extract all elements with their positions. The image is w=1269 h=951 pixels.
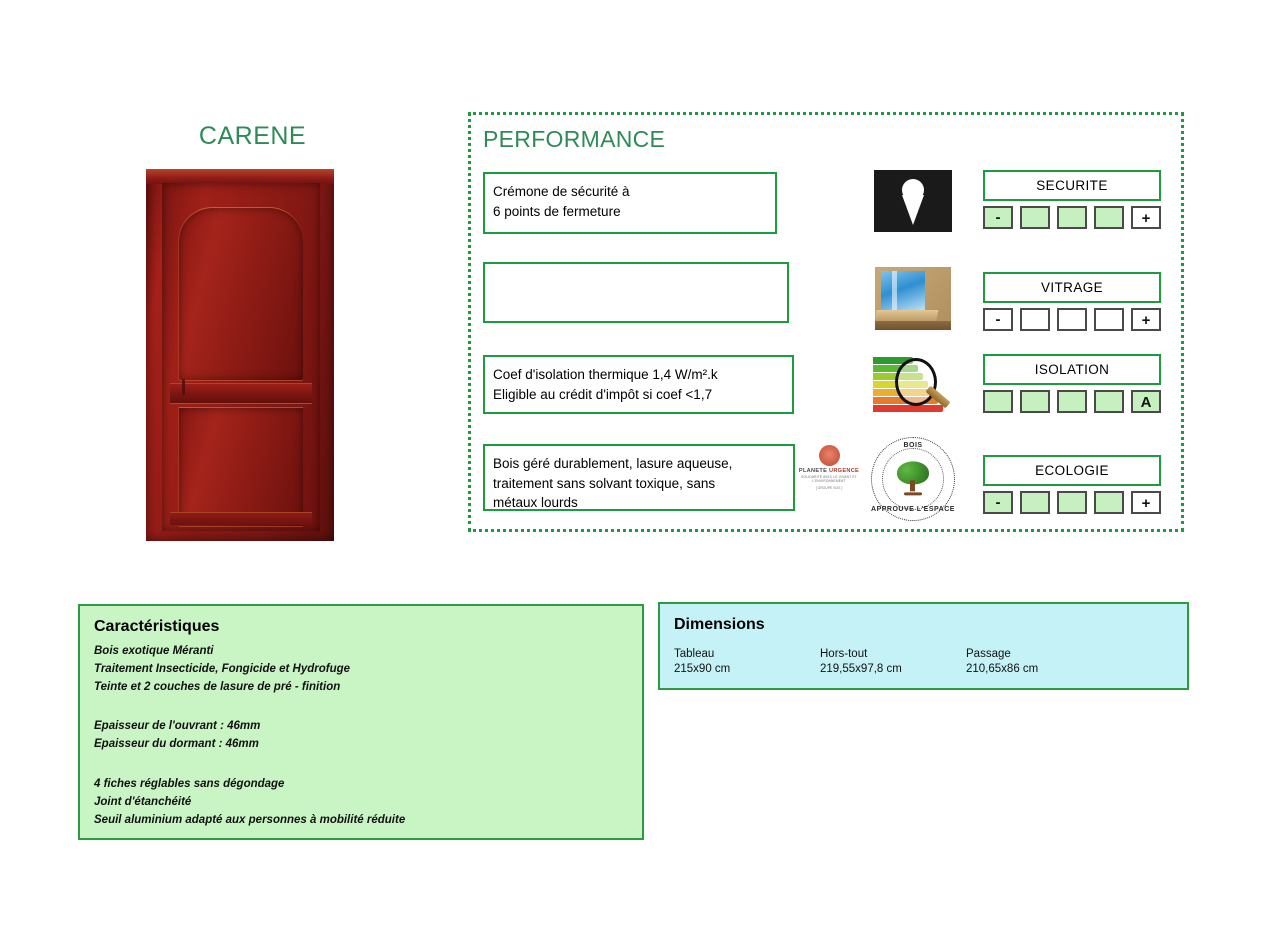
rating-group-securite: SECURITE - + (983, 170, 1161, 229)
dimensions-column-value: 215x90 cm (674, 663, 820, 675)
planete-urgence-logo: PLANETE URGENCE SOLIDARITE AVEC LE VIVAN… (791, 445, 867, 497)
scale-symbol-minus: - (985, 312, 1011, 327)
dimensions-heading: Dimensions (674, 616, 1173, 634)
securite-description-box: Crémone de sécurité à 6 points de fermet… (483, 172, 777, 234)
scale-symbol-plus: + (1133, 313, 1159, 328)
rating-label-ecologie: ECOLOGIE (983, 455, 1161, 486)
window-base (875, 321, 951, 330)
characteristics-line: 4 fiches réglables sans dégondage (94, 776, 628, 794)
door-leaf (162, 183, 320, 531)
tree-icon (895, 461, 931, 495)
rating-group-ecologie: ECOLOGIE - + (983, 455, 1161, 514)
dimensions-column-value: 219,55x97,8 cm (820, 663, 966, 675)
planete-urgence-name: PLANETE URGENCE (791, 468, 867, 474)
stamp-text-bottom: APPROUVE L'ESPACE (871, 506, 955, 513)
keyhole-glyph (902, 179, 924, 201)
performance-panel: PERFORMANCE Crémone de sécurité à 6 poin… (468, 112, 1184, 532)
scale-cell-vitrage-2[interactable] (1020, 308, 1050, 331)
door-bottom-rail (170, 512, 312, 525)
ecologie-description-line-1: Bois géré durablement, lasure aqueuse, (493, 454, 793, 474)
isolation-description-line-1: Coef d'isolation thermique 1,4 W/m².k (493, 365, 792, 385)
magnifier-lens (895, 358, 937, 406)
window-glass (881, 271, 925, 311)
characteristics-line: Traitement Insecticide, Fongicide et Hyd… (94, 661, 628, 679)
scale-cell-securite-2[interactable] (1020, 206, 1050, 229)
door-frame-top (146, 169, 334, 184)
spacer (94, 754, 628, 776)
keyhole-icon (874, 170, 952, 232)
scale-cell-ecologie-5[interactable]: + (1131, 491, 1161, 514)
ecologie-description-line-3: métaux lourds (493, 493, 793, 513)
characteristics-line: Joint d'étanchéité (94, 794, 628, 812)
spacer (94, 696, 628, 718)
characteristics-panel: Caractéristiques Bois exotique Méranti T… (78, 604, 644, 840)
rating-scale-ecologie: - + (983, 491, 1161, 514)
characteristics-line: Seuil aluminium adapté aux personnes à m… (94, 812, 628, 830)
scale-symbol-plus: + (1133, 211, 1159, 226)
characteristics-heading: Caractéristiques (94, 618, 628, 636)
scale-cell-vitrage-5[interactable]: + (1131, 308, 1161, 331)
door-lower-panel (179, 407, 303, 526)
tree-ground (904, 492, 922, 495)
scale-symbol-grade-a: A (1133, 395, 1159, 410)
scale-cell-vitrage-1[interactable]: - (983, 308, 1013, 331)
characteristics-line: Epaisseur de l'ouvrant : 46mm (94, 718, 628, 736)
vitrage-description-box (483, 262, 789, 323)
characteristics-line: Bois exotique Méranti (94, 643, 628, 661)
scale-cell-isolation-3[interactable] (1057, 390, 1087, 413)
dimensions-column-passage: Passage 210,65x86 cm (966, 648, 1112, 675)
scale-symbol-plus: + (1133, 496, 1159, 511)
rating-group-isolation: ISOLATION A (983, 354, 1161, 413)
door-product-image (146, 169, 334, 541)
dimensions-column-label: Hors-tout (820, 648, 966, 660)
rating-label-vitrage: VITRAGE (983, 272, 1161, 303)
scale-cell-vitrage-3[interactable] (1057, 308, 1087, 331)
planete-urgence-group: [ GROUPE SOS ] (791, 486, 867, 490)
scale-cell-securite-4[interactable] (1094, 206, 1124, 229)
dimensions-column-value: 210,65x86 cm (966, 663, 1112, 675)
scale-cell-isolation-4[interactable] (1094, 390, 1124, 413)
characteristics-line: Epaisseur du dormant : 46mm (94, 736, 628, 754)
scale-symbol-minus: - (985, 495, 1011, 510)
securite-description-line-1: Crémone de sécurité à (493, 182, 775, 202)
planete-urgence-mark-icon (819, 445, 840, 466)
bois-approuve-stamp-logo: BOIS APPROUVE L'ESPACE (871, 437, 955, 521)
scale-cell-securite-5[interactable]: + (1131, 206, 1161, 229)
dimensions-table: Tableau 215x90 cm Hors-tout 219,55x97,8 … (674, 648, 1173, 675)
planete-urgence-tagline: SOLIDARITE AVEC LE VIVANT ET L'ENVIRONNE… (791, 475, 867, 483)
dimensions-column-tableau: Tableau 215x90 cm (674, 648, 820, 675)
rating-label-isolation: ISOLATION (983, 354, 1161, 385)
page-title: CARENE (145, 122, 360, 151)
scale-cell-ecologie-1[interactable]: - (983, 491, 1013, 514)
scale-cell-ecologie-2[interactable] (1020, 491, 1050, 514)
ecologie-description-box: Bois géré durablement, lasure aqueuse, t… (483, 444, 795, 511)
rating-label-securite: SECURITE (983, 170, 1161, 201)
scale-cell-ecologie-4[interactable] (1094, 491, 1124, 514)
tree-trunk (910, 480, 915, 491)
scale-cell-isolation-5[interactable]: A (1131, 390, 1161, 413)
planete-urgence-name-part1: PLANETE (799, 468, 827, 474)
door-upper-panel (179, 207, 303, 380)
dimensions-column-label: Passage (966, 648, 1112, 660)
isolation-description-line-2: Eligible au crédit d'impôt si coef <1,7 (493, 385, 792, 405)
scale-cell-ecologie-3[interactable] (1057, 491, 1087, 514)
isolation-description-box: Coef d'isolation thermique 1,4 W/m².k El… (483, 355, 794, 414)
characteristics-line: Teinte et 2 couches de lasure de pré - f… (94, 679, 628, 697)
door-handle-icon (182, 379, 185, 395)
stamp-text-top: BOIS (871, 442, 955, 449)
ecologie-description-line-2: traitement sans solvant toxique, sans (493, 474, 793, 494)
window-glazing-icon (875, 267, 951, 330)
rating-scale-vitrage: - + (983, 308, 1161, 331)
performance-heading: PERFORMANCE (483, 126, 665, 153)
scale-cell-securite-1[interactable]: - (983, 206, 1013, 229)
dimensions-panel: Dimensions Tableau 215x90 cm Hors-tout 2… (658, 602, 1189, 690)
rating-scale-securite: - + (983, 206, 1161, 229)
dimensions-column-hors-tout: Hors-tout 219,55x97,8 cm (820, 648, 966, 675)
rating-group-vitrage: VITRAGE - + (983, 272, 1161, 331)
scale-symbol-minus: - (985, 210, 1011, 225)
scale-cell-isolation-1[interactable] (983, 390, 1013, 413)
planete-urgence-name-part2: URGENCE (829, 468, 859, 474)
scale-cell-isolation-2[interactable] (1020, 390, 1050, 413)
securite-description-line-2: 6 points de fermeture (493, 202, 775, 222)
scale-cell-vitrage-4[interactable] (1094, 308, 1124, 331)
scale-cell-securite-3[interactable] (1057, 206, 1087, 229)
door-mid-rail (170, 383, 312, 404)
rating-scale-isolation: A (983, 390, 1161, 413)
dimensions-column-label: Tableau (674, 648, 820, 660)
energy-rating-magnifier-icon (873, 355, 957, 415)
